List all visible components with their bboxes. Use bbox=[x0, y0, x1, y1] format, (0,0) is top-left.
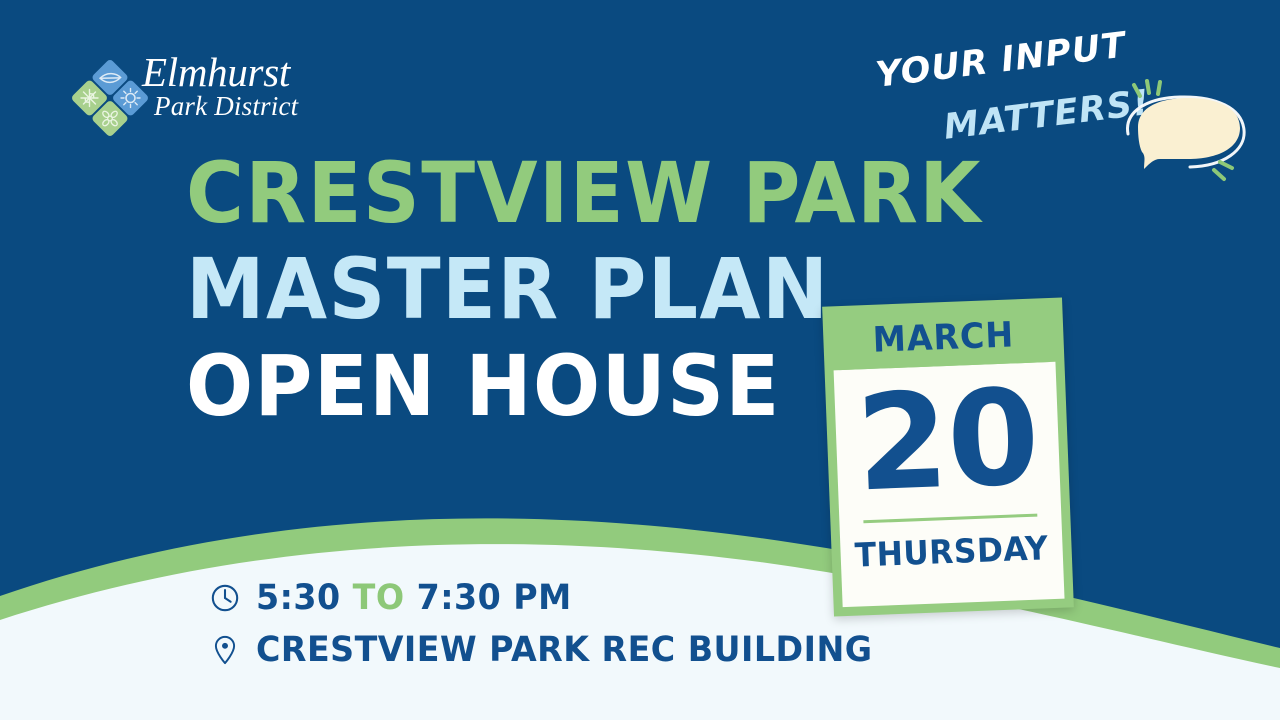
event-details: 5:30 TO 7:30 PM CRESTVIEW PARK REC BUILD… bbox=[210, 578, 930, 682]
logo-line-elmhurst: Elmhurst bbox=[142, 52, 322, 92]
time-separator: TO bbox=[353, 578, 405, 618]
calendar-card: MARCH 20 THURSDAY bbox=[822, 298, 1074, 617]
time-end: 7:30 PM bbox=[417, 578, 572, 618]
clock-icon bbox=[210, 581, 240, 615]
detail-row-location: CRESTVIEW PARK REC BUILDING bbox=[210, 630, 930, 670]
time-text: 5:30 TO 7:30 PM bbox=[256, 578, 572, 618]
calendar-month: MARCH bbox=[837, 306, 1050, 370]
logo-line-park-district: Park District bbox=[154, 92, 322, 120]
event-poster: Elmhurst Park District YOUR INPUT MATTER… bbox=[0, 0, 1280, 720]
time-start: 5:30 bbox=[256, 578, 341, 618]
logo-block: Elmhurst Park District bbox=[70, 52, 315, 144]
map-pin-icon bbox=[210, 633, 240, 667]
logo-diamond-mark bbox=[70, 58, 150, 138]
calendar-weekday: THURSDAY bbox=[854, 528, 1049, 574]
badge-line-your-input: YOUR INPUT bbox=[874, 25, 1129, 95]
logo-wordmark: Elmhurst Park District bbox=[142, 52, 322, 120]
detail-row-time: 5:30 TO 7:30 PM bbox=[210, 578, 930, 618]
calendar-day-number: 20 bbox=[854, 371, 1041, 513]
speech-bubble-icon bbox=[1094, 76, 1264, 186]
headline-line-1: CRESTVIEW PARK bbox=[186, 152, 957, 234]
location-text: CRESTVIEW PARK REC BUILDING bbox=[256, 630, 873, 670]
